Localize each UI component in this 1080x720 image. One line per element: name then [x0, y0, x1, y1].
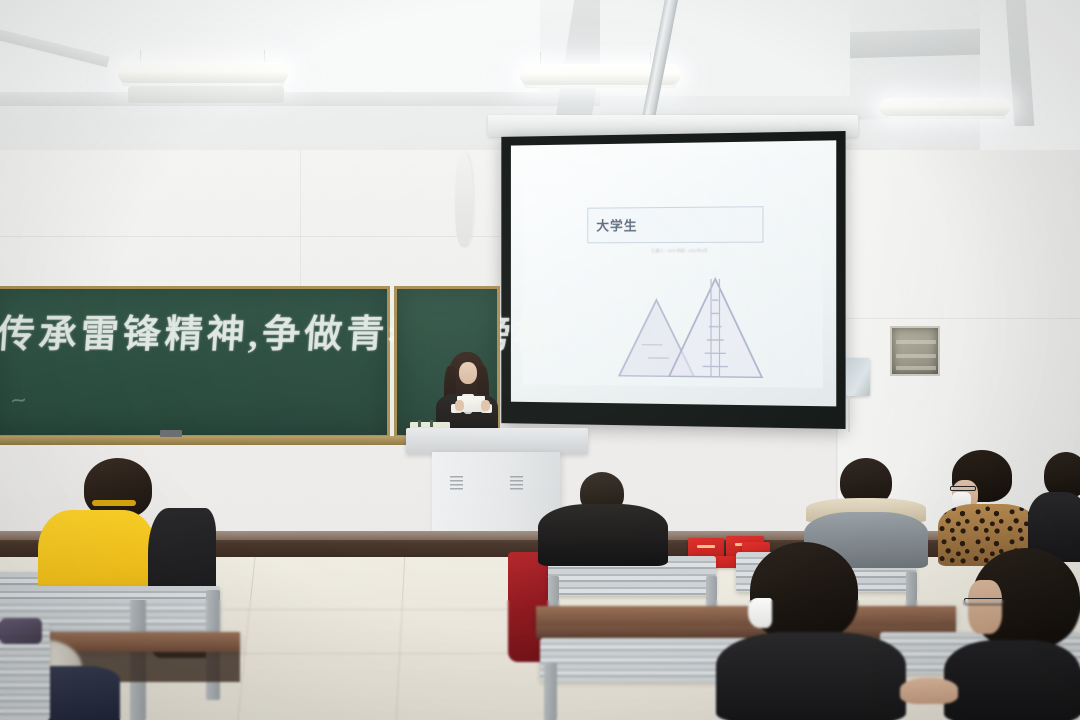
- blackboard-eraser: [160, 430, 182, 437]
- podium-clip: [430, 420, 433, 427]
- blackboard-panel-left: 传承雷锋精神,争做青春新榜样 ~: [0, 286, 390, 438]
- panel-cord: [848, 396, 850, 432]
- slide-mountain-graphic: [611, 271, 780, 378]
- screen-surface: 大学生 汇报人：XXX 时间：2021年3月: [511, 140, 836, 406]
- podium-clip: [418, 420, 421, 427]
- presenter-hand-right: [481, 400, 490, 411]
- glasses: [964, 598, 1004, 605]
- projection-screen: 大学生 汇报人：XXX 时间：2021年3月: [501, 131, 845, 429]
- fluorescent-tube-right: [880, 98, 1010, 116]
- jacket: [716, 632, 906, 720]
- presenter-face: [459, 362, 477, 384]
- wall-panel[interactable]: [846, 358, 870, 396]
- glasses: [950, 486, 976, 491]
- junction-box: [890, 326, 940, 376]
- suit-jacket: [538, 504, 668, 566]
- chalk-doodle: ~: [9, 384, 28, 417]
- head: [84, 458, 152, 518]
- face-mask: [748, 598, 772, 628]
- hands-on-bench: [900, 678, 958, 704]
- fluorescent-tube-left: [118, 62, 288, 83]
- slide-subtitle: 汇报人：XXX 时间：2021年3月: [629, 248, 731, 269]
- wall-hook: [455, 152, 473, 247]
- desk-row-mid: [536, 606, 956, 628]
- podium-vent: [450, 476, 463, 491]
- bench-leg: [544, 662, 557, 720]
- podium-vent: [510, 476, 523, 491]
- slide: 大学生 汇报人：XXX 时间：2021年3月: [523, 154, 822, 388]
- podium-top: [406, 428, 588, 454]
- blackboard: 传承雷锋精神,争做青春新榜样 ~: [0, 286, 490, 438]
- presenter-hand-left: [455, 400, 464, 411]
- slide-title-box: 大学生: [588, 206, 764, 244]
- bag-on-desk: [0, 618, 42, 644]
- slide-title: 大学生: [588, 216, 637, 235]
- face: [968, 580, 1002, 634]
- jacket: [944, 640, 1080, 720]
- classroom-scene-photo: 大学生 汇报人：XXX 时间：2021年3月: [0, 0, 1080, 720]
- lanyard: [92, 500, 136, 506]
